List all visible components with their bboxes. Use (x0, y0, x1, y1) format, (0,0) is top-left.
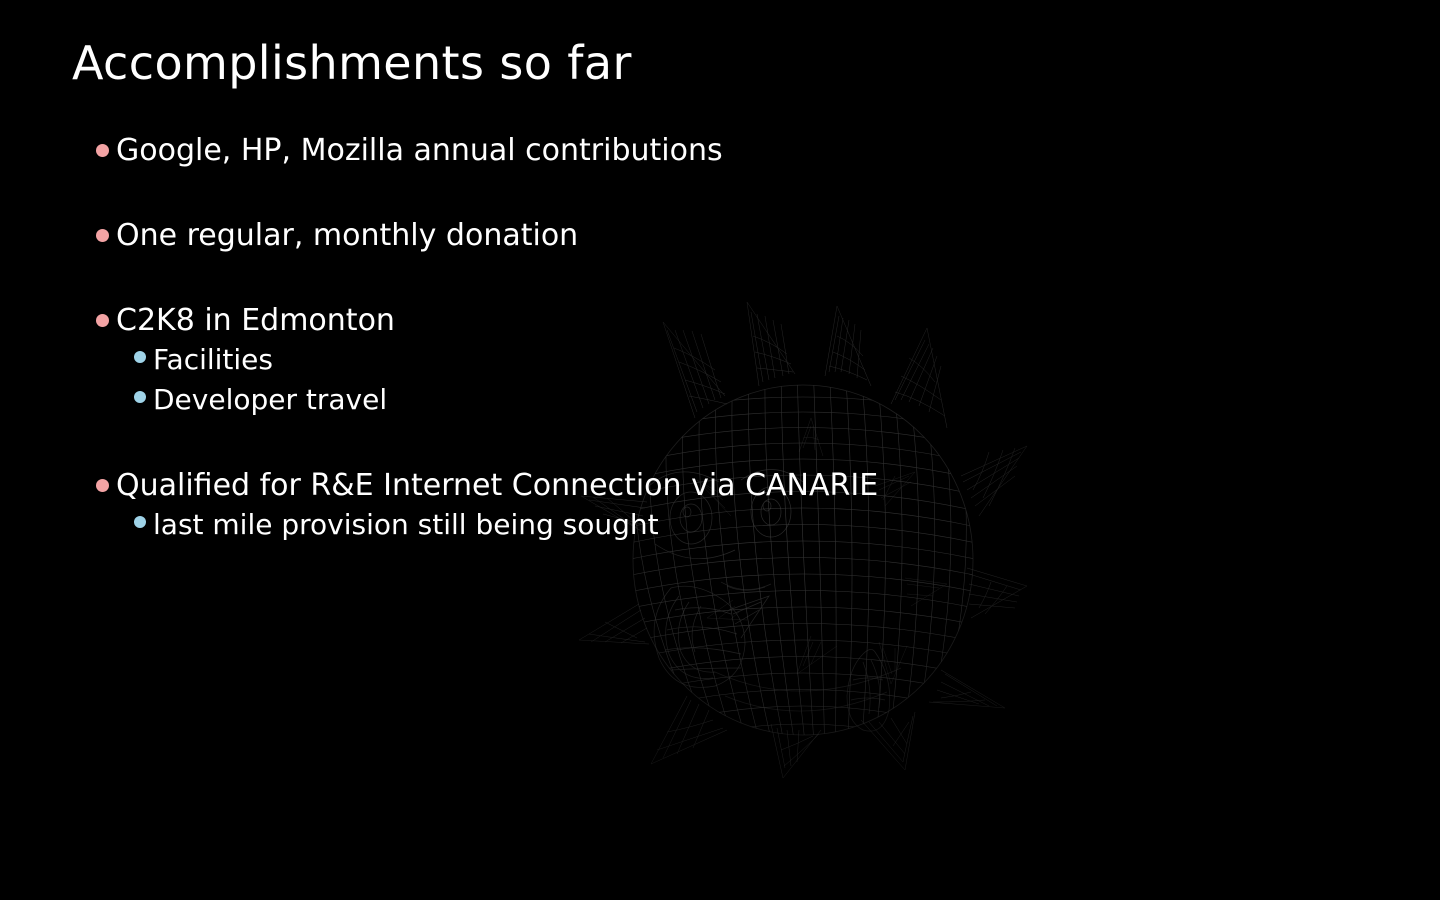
slide-title: Accomplishments so far (72, 36, 632, 90)
presentation-slide: Accomplishments so far Google, HP, Mozil… (0, 0, 1440, 900)
bullet-item-level1: Qualified for R&E Internet Connection vi… (96, 467, 1146, 505)
slide-body-list: Google, HP, Mozilla annual contributions… (96, 132, 1146, 545)
sub-bullet-text: Facilities (153, 340, 273, 380)
sub-bullet-dot-icon (134, 351, 146, 363)
bullet-text: One regular, monthly donation (116, 217, 578, 255)
sub-bullet-text: Developer travel (153, 380, 387, 420)
bullet-block: C2K8 in Edmonton Facilities Developer tr… (96, 302, 1146, 420)
sub-bullet-text: last mile provision still being sought (153, 505, 659, 545)
bullet-dot-icon (96, 314, 109, 327)
bullet-block: One regular, monthly donation (96, 217, 1146, 255)
sub-bullet-dot-icon (134, 516, 146, 528)
bullet-dot-icon (96, 229, 109, 242)
bullet-item-level1: Google, HP, Mozilla annual contributions (96, 132, 1146, 170)
bullet-block: Qualified for R&E Internet Connection vi… (96, 467, 1146, 545)
bullet-item-level2: Developer travel (96, 380, 1146, 420)
bullet-text: Qualified for R&E Internet Connection vi… (116, 467, 878, 505)
sub-bullet-dot-icon (134, 391, 146, 403)
bullet-dot-icon (96, 479, 109, 492)
bullet-dot-icon (96, 144, 109, 157)
bullet-text: C2K8 in Edmonton (116, 302, 395, 340)
bullet-block: Google, HP, Mozilla annual contributions (96, 132, 1146, 170)
bullet-item-level2: Facilities (96, 340, 1146, 380)
bullet-item-level2: last mile provision still being sought (96, 505, 1146, 545)
bullet-item-level1: C2K8 in Edmonton (96, 302, 1146, 340)
bullet-item-level1: One regular, monthly donation (96, 217, 1146, 255)
bullet-text: Google, HP, Mozilla annual contributions (116, 132, 723, 170)
